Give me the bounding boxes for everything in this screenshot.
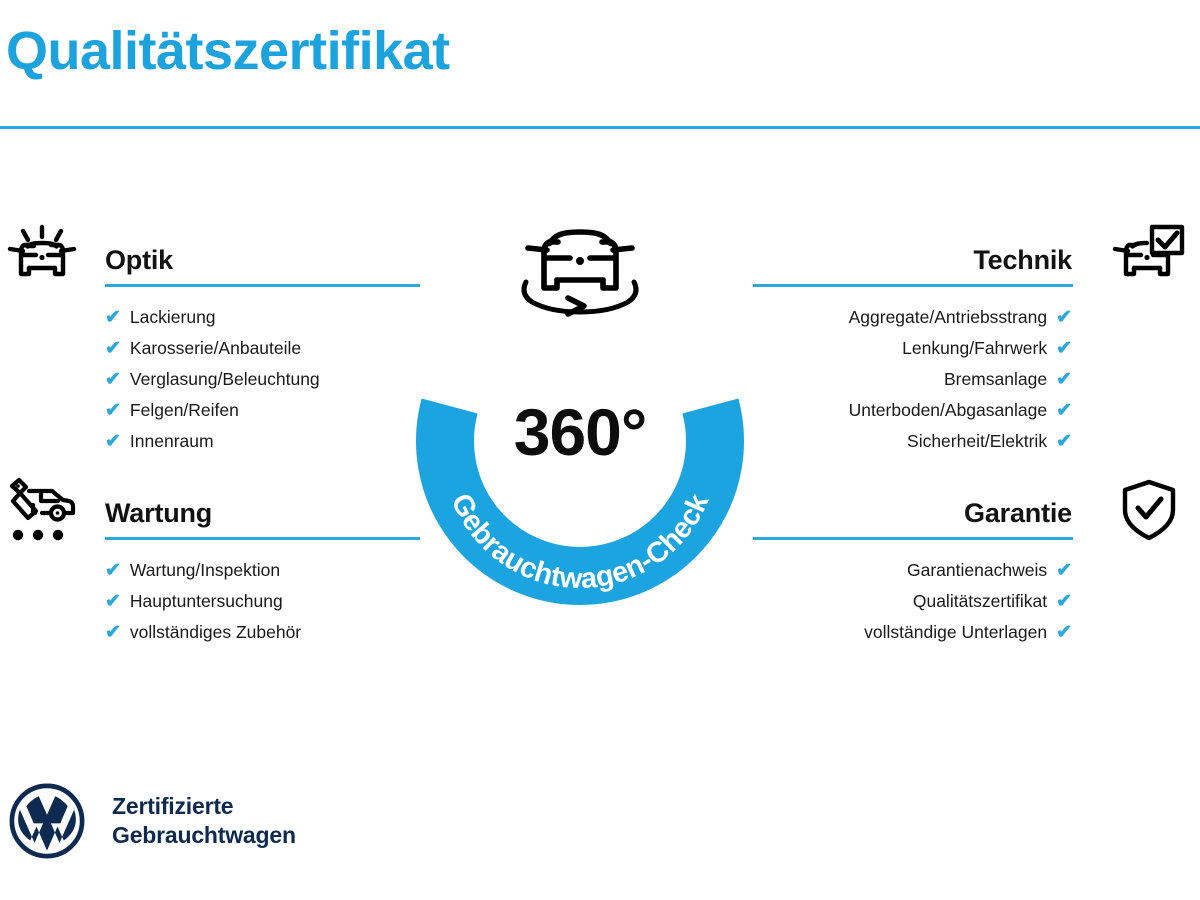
- list-item-label: Innenraum: [130, 431, 214, 452]
- car-shine-icon: [5, 224, 79, 294]
- list-item: ✔Verglasung/Beleuchtung: [105, 364, 420, 395]
- section-title-wartung: Wartung: [105, 498, 212, 529]
- pen-car-service-icon: [5, 477, 79, 547]
- section-wartung: Wartung ✔Wartung/Inspektion ✔Hauptunters…: [0, 475, 420, 648]
- section-title-garantie: Garantie: [964, 498, 1072, 529]
- list-item: ✔Lackierung: [105, 302, 420, 333]
- check-icon: ✔: [1056, 401, 1072, 420]
- list-item: Qualitätszertifikat✔: [753, 586, 1072, 617]
- vw-certified-text: Zertifizierte Gebrauchtwagen: [112, 792, 296, 851]
- check-icon: ✔: [1056, 592, 1072, 611]
- list-item-label: Qualitätszertifikat: [913, 591, 1047, 612]
- check-icon: ✔: [1056, 561, 1072, 580]
- check-icon: ✔: [1056, 308, 1072, 327]
- vw-certified-line2: Gebrauchtwagen: [112, 821, 296, 850]
- list-item: Bremsanlage✔: [753, 364, 1072, 395]
- list-item-label: Karosserie/Anbauteile: [130, 338, 301, 359]
- check-icon: ✔: [1056, 432, 1072, 451]
- check-icon: ✔: [105, 561, 121, 580]
- section-divider-wartung: [105, 537, 420, 540]
- section-garantie: Garantie Garantienachweis✔ Qualitätszert…: [753, 475, 1200, 648]
- section-technik: Technik Aggregate/Antriebsstrang✔ Lenkun…: [753, 222, 1200, 457]
- list-item: Sicherheit/Elektrik✔: [753, 426, 1072, 457]
- section-divider-garantie: [753, 537, 1073, 540]
- list-item-label: Bremsanlage: [944, 369, 1047, 390]
- check-icon: ✔: [105, 308, 121, 327]
- list-item: Aggregate/Antriebsstrang✔: [753, 302, 1072, 333]
- list-item: Lenkung/Fahrwerk✔: [753, 333, 1072, 364]
- car-rotate-icon: [510, 214, 650, 322]
- checklist-garantie: Garantienachweis✔ Qualitätszertifikat✔ v…: [753, 555, 1072, 648]
- section-title-optik: Optik: [105, 245, 173, 276]
- badge-degrees-label: 360°: [404, 394, 756, 470]
- page-title: Qualitätszertifikat: [6, 22, 450, 81]
- check-icon: ✔: [105, 370, 121, 389]
- checklist-technik: Aggregate/Antriebsstrang✔ Lenkung/Fahrwe…: [753, 302, 1072, 457]
- list-item-label: Unterboden/Abgasanlage: [849, 400, 1048, 421]
- list-item: ✔Karosserie/Anbauteile: [105, 333, 420, 364]
- check-icon: ✔: [1056, 623, 1072, 642]
- list-item: ✔Innenraum: [105, 426, 420, 457]
- section-header-optik: Optik: [0, 222, 420, 302]
- list-item: ✔vollständiges Zubehör: [105, 617, 420, 648]
- shield-check-icon: [1112, 477, 1186, 547]
- header-divider: [0, 126, 1200, 129]
- list-item-label: Verglasung/Beleuchtung: [130, 369, 320, 390]
- check-icon: ✔: [105, 339, 121, 358]
- check-icon: ✔: [105, 623, 121, 642]
- section-divider-optik: [105, 284, 420, 287]
- list-item-label: Sicherheit/Elektrik: [907, 431, 1047, 452]
- check-icon: ✔: [105, 592, 121, 611]
- car-checkbox-icon: [1112, 224, 1186, 294]
- list-item-label: Felgen/Reifen: [130, 400, 239, 421]
- vw-certified-line1: Zertifizierte: [112, 792, 296, 821]
- list-item: vollständige Unterlagen✔: [753, 617, 1072, 648]
- check-icon: ✔: [105, 401, 121, 420]
- list-item-label: Garantienachweis: [907, 560, 1047, 581]
- list-item-label: Lenkung/Fahrwerk: [902, 338, 1047, 359]
- list-item-label: Aggregate/Antriebsstrang: [849, 307, 1047, 328]
- check-icon: ✔: [1056, 370, 1072, 389]
- list-item-label: vollständige Unterlagen: [864, 622, 1047, 643]
- list-item-label: Hauptuntersuchung: [130, 591, 283, 612]
- list-item: Garantienachweis✔: [753, 555, 1072, 586]
- checklist-optik: ✔Lackierung ✔Karosserie/Anbauteile ✔Verg…: [105, 302, 420, 457]
- list-item: ✔Wartung/Inspektion: [105, 555, 420, 586]
- section-divider-technik: [753, 284, 1073, 287]
- section-optik: Optik ✔Lackierung ✔Karosserie/Anbauteile…: [0, 222, 420, 457]
- list-item: ✔Hauptuntersuchung: [105, 586, 420, 617]
- gebrauchtwagen-check-badge: Gebrauchtwagen-Check 360°: [404, 214, 756, 614]
- checklist-wartung: ✔Wartung/Inspektion ✔Hauptuntersuchung ✔…: [105, 555, 420, 648]
- list-item-label: Lackierung: [130, 307, 216, 328]
- list-item-label: Wartung/Inspektion: [130, 560, 280, 581]
- check-icon: ✔: [1056, 339, 1072, 358]
- section-title-technik: Technik: [973, 245, 1072, 276]
- check-icon: ✔: [105, 432, 121, 451]
- list-item: ✔Felgen/Reifen: [105, 395, 420, 426]
- vw-logo-icon: [8, 782, 86, 860]
- section-header-technik: Technik: [753, 222, 1200, 302]
- section-header-wartung: Wartung: [0, 475, 420, 555]
- list-item: Unterboden/Abgasanlage✔: [753, 395, 1072, 426]
- vw-certified-footer: Zertifizierte Gebrauchtwagen: [8, 782, 296, 860]
- list-item-label: vollständiges Zubehör: [130, 622, 301, 643]
- section-header-garantie: Garantie: [753, 475, 1200, 555]
